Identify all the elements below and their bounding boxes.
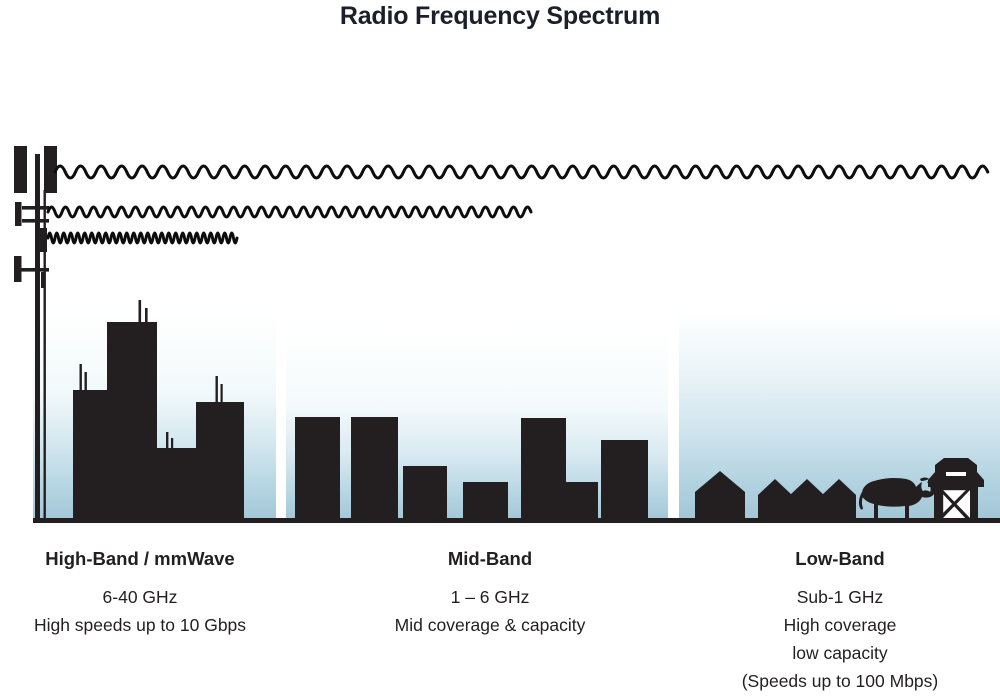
band-description-mid-band: 1 – 6 GHz Mid coverage & capacity (340, 583, 640, 639)
building-high-tallest (107, 322, 157, 521)
wave-short-wavelength (48, 233, 237, 243)
building-mid-5 (521, 418, 566, 521)
building-antenna-mast-c (80, 364, 82, 392)
tower-crossarm-bottom (21, 268, 49, 272)
building-mid-3 (403, 466, 447, 521)
building-mid-7 (601, 440, 648, 521)
tower-crossarm-upper (22, 206, 49, 210)
building-high-left (73, 390, 107, 521)
building-antenna-mast-h (221, 384, 223, 404)
band-line: (Speeds up to 100 Mbps) (680, 667, 1000, 695)
radio-waves (48, 166, 988, 243)
band-title-high-band: High-Band / mmWave (0, 548, 280, 570)
building-mid-2 (351, 417, 398, 521)
building-mid-4 (463, 482, 508, 521)
band-line: High speeds up to 10 Gbps (0, 611, 280, 639)
building-antenna-mast-d (85, 372, 87, 392)
band-line: Sub-1 GHz (680, 583, 1000, 611)
ground-line (33, 518, 1000, 523)
building-antenna-mast-g (216, 376, 218, 404)
tower-mast-stub (41, 272, 44, 288)
building-high-center-low (157, 448, 196, 521)
barn-door-frame-right (970, 488, 972, 521)
barn-door-frame-left (941, 488, 943, 521)
band-description-low-band: Sub-1 GHz High coverage low capacity (Sp… (680, 583, 1000, 695)
building-antenna-mast-f (171, 438, 173, 452)
infographic-canvas: Radio Frequency Spectrum (0, 0, 1000, 700)
tower-antenna-panel-left-mid (15, 202, 22, 226)
band-line: High coverage (680, 611, 1000, 639)
band-title-mid-band: Mid-Band (340, 548, 640, 570)
band-caption-mid-band: Mid-Band 1 – 6 GHz Mid coverage & capaci… (340, 548, 640, 639)
band-caption-low-band: Low-Band Sub-1 GHz High coverage low cap… (680, 548, 1000, 695)
band-title-low-band: Low-Band (680, 548, 1000, 570)
tower-antenna-panel-left-low (14, 256, 22, 282)
building-mid-6 (566, 482, 598, 521)
building-mid-1 (295, 417, 340, 521)
tower-antenna-panel-left-top (14, 146, 27, 193)
tower-antenna-panel-right-mid (40, 228, 47, 252)
barn-door-frame-top (941, 488, 972, 490)
building-antenna-mast-e (166, 432, 168, 452)
band-line: 6-40 GHz (0, 583, 280, 611)
band-line: 1 – 6 GHz (340, 583, 640, 611)
band-description-high-band: 6-40 GHz High speeds up to 10 Gbps (0, 583, 280, 639)
wave-medium-wavelength (48, 207, 531, 217)
barn-hayloft-window (946, 472, 966, 476)
barn-icon (928, 458, 984, 521)
band-line: low capacity (680, 639, 1000, 667)
tower-crossarm-lower (22, 219, 49, 223)
building-high-right (196, 402, 244, 521)
wave-long-wavelength (55, 166, 988, 178)
band-line: Mid coverage & capacity (340, 611, 640, 639)
band-caption-high-band: High-Band / mmWave 6-40 GHz High speeds … (0, 548, 280, 639)
